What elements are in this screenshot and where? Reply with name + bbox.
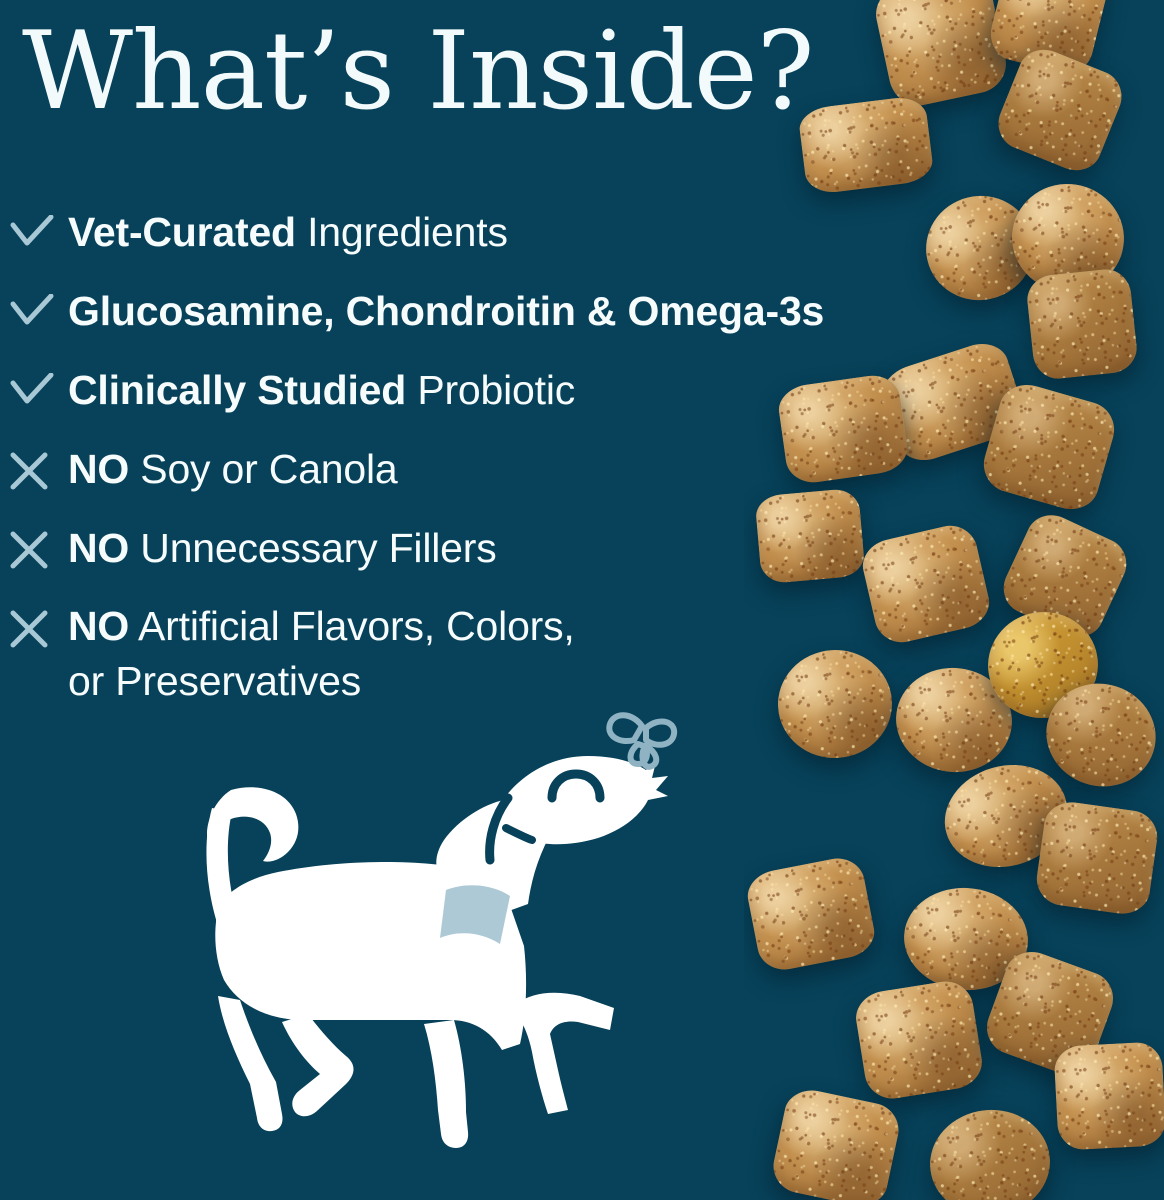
benefit-row: Clinically Studied Probiotic xyxy=(4,362,984,422)
benefit-label-rest: Ingredients xyxy=(296,209,508,255)
cross-icon xyxy=(4,441,68,497)
benefit-row: NO Artificial Flavors, Colors, or Preser… xyxy=(4,599,984,709)
benefit-label-bold: Glucosamine, Chondroitin & Omega-3s xyxy=(68,288,824,334)
treat-piece xyxy=(1025,267,1139,381)
benefit-label-rest: Soy or Canola xyxy=(129,446,397,492)
benefit-row: NO Unnecessary Fillers xyxy=(4,520,984,580)
benefit-row: Vet-Curated Ingredients xyxy=(4,204,984,264)
benefit-label-rest: Artificial Flavors, Colors, or Preservat… xyxy=(68,603,575,704)
promo-graphic: What’s Inside? Vet-Curated IngredientsGl… xyxy=(0,0,1164,1200)
benefit-label-bold: NO xyxy=(68,603,129,649)
treat-piece xyxy=(1053,1041,1164,1151)
benefit-label: NO Unnecessary Fillers xyxy=(68,520,497,577)
benefit-label-rest: Probiotic xyxy=(406,367,575,413)
benefit-label: NO Artificial Flavors, Colors, or Preser… xyxy=(68,599,575,709)
treat-piece xyxy=(925,1104,1055,1200)
benefit-label: Glucosamine, Chondroitin & Omega-3s xyxy=(68,283,824,340)
benefits-list: Vet-Curated IngredientsGlucosamine, Chon… xyxy=(4,204,984,709)
check-icon xyxy=(4,362,68,418)
treat-piece xyxy=(871,0,1012,111)
cross-icon xyxy=(4,599,68,655)
treat-piece xyxy=(852,977,985,1102)
benefit-label-bold: NO xyxy=(68,446,129,492)
check-icon xyxy=(4,204,68,260)
butterfly-icon xyxy=(609,715,674,767)
benefit-label: Vet-Curated Ingredients xyxy=(68,204,508,261)
benefit-label-bold: Vet-Curated xyxy=(68,209,296,255)
benefit-row: NO Soy or Canola xyxy=(4,441,984,501)
cross-icon xyxy=(4,520,68,576)
treat-piece xyxy=(990,42,1129,179)
treat-piece xyxy=(797,95,935,196)
benefit-label: NO Soy or Canola xyxy=(68,441,398,498)
page-title: What’s Inside? xyxy=(22,18,814,126)
benefit-label-bold: Clinically Studied xyxy=(68,367,406,413)
treat-piece xyxy=(744,854,878,975)
check-icon xyxy=(4,283,68,339)
dog-illustration xyxy=(128,700,688,1170)
benefit-label-rest: Unnecessary Fillers xyxy=(129,525,496,571)
treat-piece xyxy=(1033,799,1160,918)
treat-piece xyxy=(768,1085,903,1200)
benefit-label-bold: NO xyxy=(68,525,129,571)
benefit-row: Glucosamine, Chondroitin & Omega-3s xyxy=(4,283,984,343)
benefit-label: Clinically Studied Probiotic xyxy=(68,362,575,419)
